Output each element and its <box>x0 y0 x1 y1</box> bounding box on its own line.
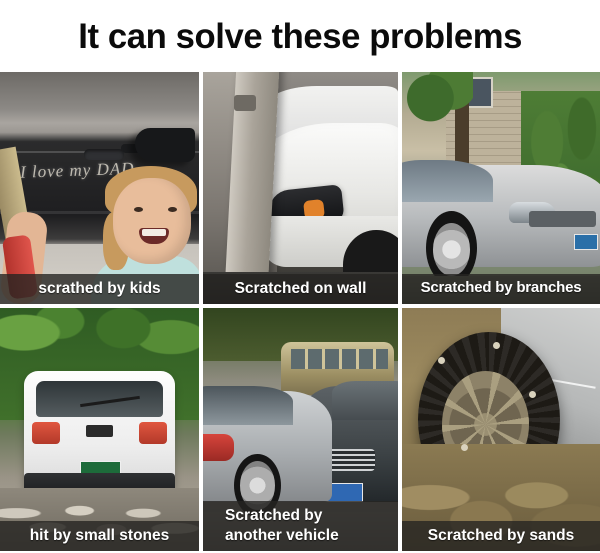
child-head <box>113 178 191 264</box>
brand-badge <box>86 425 114 437</box>
problem-image-grid: I love my DAD scrathed by kids <box>0 72 600 551</box>
tile-caption: scrathed by kids <box>0 274 199 304</box>
photo-hit-by-small-stones <box>0 308 199 551</box>
tail-light-left <box>32 422 60 444</box>
tree-canopy <box>402 72 473 137</box>
tile-hit-by-small-stones: hit by small stones <box>0 308 203 551</box>
tile-caption: Scratched by branches <box>402 274 600 304</box>
mud-splash <box>438 357 445 364</box>
page-title: It can solve these problems <box>78 19 522 54</box>
photo-scratched-by-branches <box>402 72 600 304</box>
sedan-windshield <box>332 381 398 420</box>
side-mirror <box>135 128 195 162</box>
photo-scratched-on-wall <box>203 72 398 304</box>
tile-scratched-by-kids: I love my DAD scrathed by kids <box>0 72 203 308</box>
tile-caption: Scratched on wall <box>203 274 398 304</box>
tile-scratched-by-another-vehicle: Scratched by another vehicle <box>203 308 402 551</box>
photo-scratched-by-sands <box>402 308 600 551</box>
tile-scratched-by-sands: Scratched by sands <box>402 308 600 551</box>
pillar-recess <box>234 95 255 111</box>
lower-grille <box>529 211 596 227</box>
photo-scratched-by-kids: I love my DAD <box>0 72 199 304</box>
windshield <box>402 160 493 202</box>
bus-windows <box>291 349 389 368</box>
child-teeth <box>142 229 166 236</box>
tile-scratched-by-branches: Scratched by branches <box>402 72 600 308</box>
hatchback-tail-light <box>203 434 234 461</box>
rear-window <box>36 381 163 417</box>
tile-caption: Scratched by sands <box>402 521 600 551</box>
tile-caption: hit by small stones <box>0 521 199 551</box>
child-eye-right <box>168 207 177 212</box>
mud-splash <box>529 391 536 398</box>
child-eye-left <box>134 207 143 212</box>
tail-light-right <box>139 422 167 444</box>
tile-caption: Scratched by another vehicle <box>203 501 398 551</box>
hatchback-rear-window <box>203 386 293 425</box>
tile-scratched-on-wall: Scratched on wall <box>203 72 402 308</box>
alloy-rim <box>433 223 471 276</box>
poster: It can solve these problems I love my DA… <box>0 0 600 553</box>
license-plate <box>574 234 598 250</box>
door-handle <box>84 149 124 160</box>
poster-title-bar: It can solve these problems <box>0 0 600 72</box>
